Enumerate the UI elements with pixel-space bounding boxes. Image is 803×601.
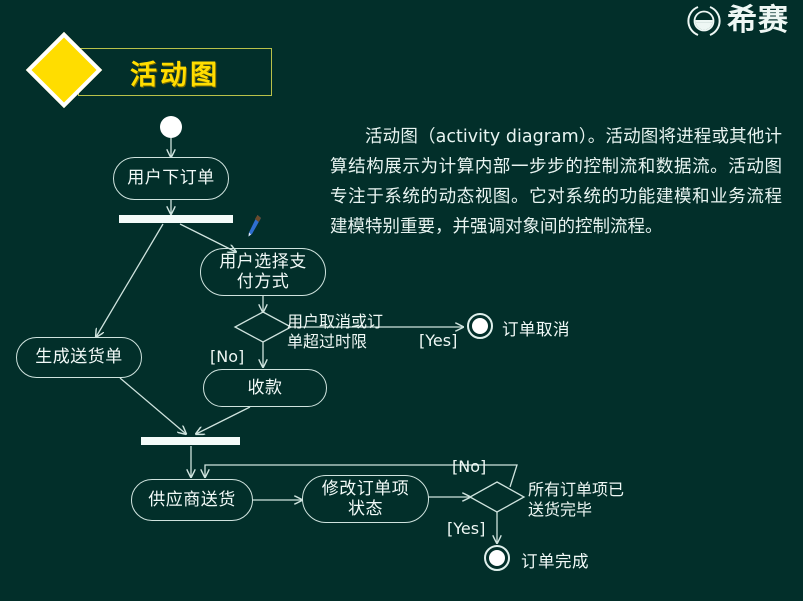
action-node-collect-payment[interactable]: 收款 [203,369,327,407]
action-label-line2: 付方式 [237,272,290,292]
action-label: 用户下订单 [127,168,215,189]
action-label-line1: 修改订单项 [322,479,410,499]
action-label: 供应商送货 [148,490,236,511]
decision-label-complete-line2: 送货完毕 [528,500,624,520]
action-node-supplier-delivery[interactable]: 供应商送货 [131,479,253,521]
guard-yes-cancel: [Yes] [419,331,457,350]
action-node-place-order[interactable]: 用户下订单 [113,157,229,200]
pen-cursor-icon [246,214,262,238]
guard-yes-complete: [Yes] [447,519,485,538]
guard-no-complete: [No] [452,457,486,476]
action-node-update-order-item-status[interactable]: 修改订单项 状态 [302,475,429,523]
guard-no-cancel: [No] [210,347,244,366]
action-label: 收款 [248,378,283,399]
action-node-select-payment[interactable]: 用户选择支 付方式 [200,248,326,296]
slide-canvas: 希赛 活动图 活动图（activity diagram）。活动图将进程或其他计算… [0,0,803,601]
decision-label-complete-line1: 所有订单项已 [528,480,624,500]
final-node-label-cancel: 订单取消 [502,316,570,340]
join-bar [141,437,240,445]
action-label-line1: 用户选择支 [219,252,307,272]
initial-node [160,116,182,138]
action-label-line2: 状态 [348,499,383,519]
final-node-label-complete: 订单完成 [521,548,589,572]
decision-node-cancel [235,312,291,342]
decision-label-complete: 所有订单项已 送货完毕 [528,480,624,520]
decision-label-cancel-line1: 用户取消或订 [287,312,383,332]
action-label: 生成送货单 [35,347,123,368]
decision-label-cancel-line2: 单超过时限 [287,332,383,352]
fork-bar [119,215,233,223]
action-node-generate-delivery-order[interactable]: 生成送货单 [16,337,142,378]
decision-label-cancel: 用户取消或订 单超过时限 [287,312,383,352]
decision-node-complete [470,482,524,512]
